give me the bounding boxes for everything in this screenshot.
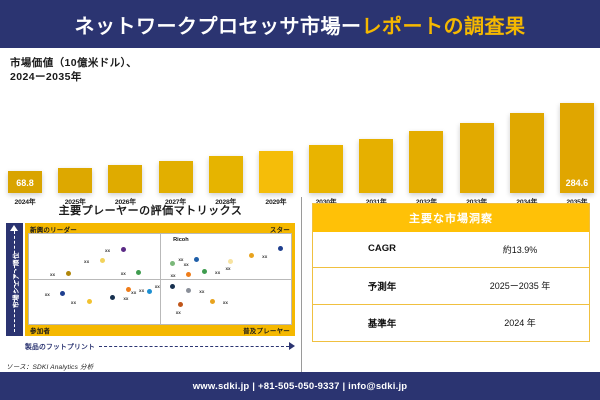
chart-title-line2: 2024ー2035年 xyxy=(10,70,590,84)
page-title: ネットワークプロセッサ市場ーレポートの調査果 xyxy=(75,10,526,39)
chart-bar-column: 68.8 xyxy=(8,98,42,193)
page-title-accent: レポートの調査果 xyxy=(362,16,526,38)
page-footer: www.sdki.jp | +81-505-050-9337 | info@sd… xyxy=(0,372,600,400)
matrix-data-point xyxy=(121,247,126,252)
insights-row: 予測年2025ー2035 年 xyxy=(313,267,589,304)
chart-bar xyxy=(510,113,544,193)
chart-bar xyxy=(108,165,142,193)
matrix-data-point xyxy=(228,259,233,264)
matrix-title: 主要プレーヤーの評価マトリックス xyxy=(6,199,295,223)
matrix-data-point xyxy=(178,302,183,307)
matrix-point-label: xx xyxy=(184,262,189,267)
chart-bar-column xyxy=(209,98,243,193)
chart-bar-column xyxy=(108,98,142,193)
matrix-data-point xyxy=(186,288,191,293)
chart-bar-column xyxy=(409,98,443,193)
matrix-data-point xyxy=(194,257,199,262)
matrix-data-point xyxy=(66,271,71,276)
chart-bar-column xyxy=(259,98,293,193)
matrix-panel: 主要プレーヤーの評価マトリックス 市場シェア・順位 新興のリーダー スター 参加… xyxy=(0,197,302,372)
chart-bar-value-label: 284.6 xyxy=(560,178,594,188)
chart-bar xyxy=(460,123,494,193)
chart-title: 市場価値（10億米ドル）、 2024ー2035年 xyxy=(10,56,590,84)
matrix-data-point xyxy=(202,269,207,274)
chart-bar xyxy=(359,139,393,193)
chart-bar xyxy=(259,151,293,193)
chart-bar xyxy=(159,161,193,193)
chart-bar-column xyxy=(159,98,193,193)
matrix-point-label: xx xyxy=(84,259,89,264)
source-note: ソース：SDKI Analytics 分析 xyxy=(6,361,93,371)
quadrant-label-participants: 参加者 xyxy=(30,325,50,335)
matrix-point-label: xx xyxy=(123,296,128,301)
insights-row-value: 2024 年 xyxy=(451,305,589,341)
chart-bar-column xyxy=(460,98,494,193)
chart-bar-value-label: 68.8 xyxy=(8,178,42,188)
chart-bar xyxy=(209,156,243,193)
insights-row-key: CAGR xyxy=(313,232,451,267)
matrix-point-label: xx xyxy=(121,271,126,276)
arrow-right-icon xyxy=(289,342,295,350)
insights-row-key: 予測年 xyxy=(313,268,451,304)
page-header: ネットワークプロセッサ市場ーレポートの調査果 xyxy=(0,0,600,48)
matrix-point-label: xx xyxy=(178,257,183,262)
insights-row-key: 基準年 xyxy=(313,305,451,341)
matrix-point-label: xx xyxy=(105,248,110,253)
insights-header: 主要な市場洞察 xyxy=(313,204,589,232)
insights-row: 基準年2024 年 xyxy=(313,304,589,341)
matrix-data-point xyxy=(210,299,215,304)
lower-section: 主要プレーヤーの評価マトリックス 市場シェア・順位 新興のリーダー スター 参加… xyxy=(0,197,600,372)
chart-bar-column xyxy=(359,98,393,193)
chart-plot-area: 68.8284.6 xyxy=(8,98,594,193)
matrix-point-label: xx xyxy=(71,300,76,305)
chart-bar xyxy=(309,145,343,193)
footer-contact: www.sdki.jp | +81-505-050-9337 | info@sd… xyxy=(193,381,408,392)
matrix-point-label: xx xyxy=(215,270,220,275)
matrix-point-label: xx xyxy=(223,300,228,305)
quadrant-label-pervasive: 普及プレーヤー xyxy=(243,325,290,335)
matrix-point-label: xx xyxy=(226,266,231,271)
insights-card: 主要な市場洞察 CAGR約13.9%予測年2025ー2035 年基準年2024 … xyxy=(312,203,590,342)
matrix-point-label: xx xyxy=(139,288,144,293)
insights-table: CAGR約13.9%予測年2025ー2035 年基準年2024 年 xyxy=(313,232,589,341)
chart-bar-column xyxy=(58,98,92,193)
matrix-x-axis: 製品のフットプリント xyxy=(25,338,295,353)
chart-bar xyxy=(58,168,92,193)
chart-bar xyxy=(409,131,443,193)
matrix-data-point xyxy=(249,253,254,258)
chart-bar-column: 284.6 xyxy=(560,98,594,193)
matrix-point-label: xx xyxy=(170,273,175,278)
matrix-point-label: xx xyxy=(45,292,50,297)
matrix-data-point xyxy=(170,284,175,289)
chart-bar-column xyxy=(309,98,343,193)
matrix-y-axis: 市場シェア・順位 xyxy=(6,223,23,336)
x-axis-dashed-line xyxy=(99,346,289,347)
matrix-y-axis-label: 市場シェア・順位 xyxy=(10,252,20,308)
matrix-point-label: xx xyxy=(262,254,267,259)
matrix-point-label: xx xyxy=(199,289,204,294)
chart-bar: 284.6 xyxy=(560,103,594,193)
matrix-data-point xyxy=(110,295,115,300)
matrix-point-label: xx xyxy=(176,310,181,315)
matrix-data-point xyxy=(60,291,65,296)
matrix-point-label: xx xyxy=(50,272,55,277)
insights-panel: 主要な市場洞察 CAGR約13.9%予測年2025ー2035 年基準年2024 … xyxy=(302,197,600,372)
market-value-chart: 市場価値（10億米ドル）、 2024ー2035年 68.8284.6 2024年… xyxy=(0,48,600,198)
chart-title-line1: 市場価値（10億米ドル）、 xyxy=(10,56,590,70)
matrix-plot-grid: xxxxxxxxxxxxxxxxxxxxxxxxxxxxxxxxxxxxxxRi… xyxy=(28,233,292,325)
matrix-data-point xyxy=(186,272,191,277)
matrix-data-point xyxy=(170,261,175,266)
matrix-x-axis-label: 製品のフットプリント xyxy=(25,341,99,351)
matrix-quadrant-frame: 新興のリーダー スター 参加者 普及プレーヤー xxxxxxxxxxxxxxxx… xyxy=(25,223,295,336)
matrix-data-point xyxy=(87,299,92,304)
matrix-data-point xyxy=(100,258,105,263)
matrix-point-label: xx xyxy=(131,290,136,295)
matrix-highlighted-company-label: Ricoh xyxy=(173,237,189,243)
page-title-primary: ネットワークプロセッサ市場ー xyxy=(75,16,362,38)
matrix-data-point xyxy=(136,270,141,275)
matrix-data-point xyxy=(147,289,152,294)
matrix-data-point xyxy=(278,246,283,251)
matrix-point-label: xx xyxy=(155,284,160,289)
insights-row: CAGR約13.9% xyxy=(313,232,589,267)
insights-row-value: 2025ー2035 年 xyxy=(451,268,589,304)
chart-bar-column xyxy=(510,98,544,193)
matrix-chart: 市場シェア・順位 新興のリーダー スター 参加者 普及プレーヤー xxxxxxx… xyxy=(6,223,295,355)
chart-bar: 68.8 xyxy=(8,171,42,193)
insights-row-value: 約13.9% xyxy=(451,232,589,267)
